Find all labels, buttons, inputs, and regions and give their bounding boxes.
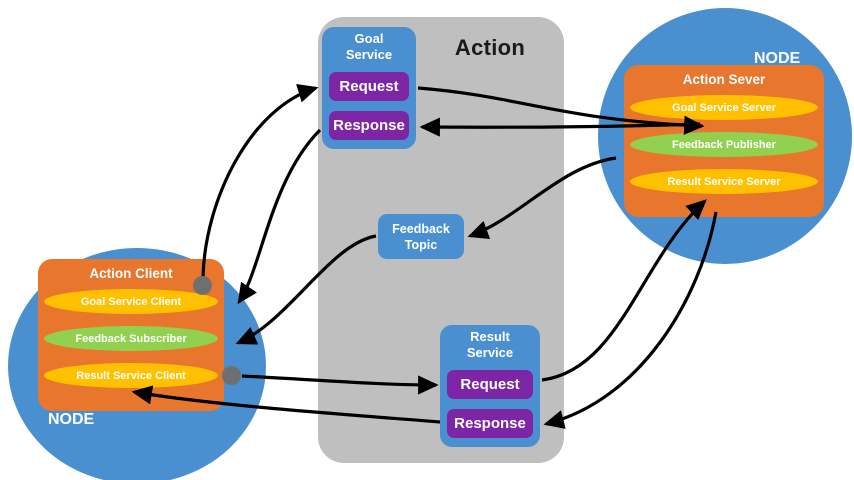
- connector-dot-result-client: [222, 366, 241, 385]
- result-service-response-button[interactable]: Response: [447, 409, 533, 438]
- pill-feedback-subscriber[interactable]: Feedback Subscriber: [44, 326, 218, 351]
- goal-service-response-button[interactable]: Response: [329, 111, 409, 140]
- goal-service-title-line1: Goal: [322, 31, 416, 47]
- pill-result-service-client[interactable]: Result Service Client: [44, 363, 218, 388]
- diagram-canvas: Action NODE Action Client Goal Service C…: [0, 0, 854, 480]
- arrow-goal-client-to-request: [203, 88, 316, 277]
- goal-service-request-button[interactable]: Request: [329, 72, 409, 101]
- feedback-topic-line2: Topic: [405, 237, 437, 253]
- goal-service-title-line2: Service: [322, 47, 416, 63]
- feedback-topic-box[interactable]: Feedback Topic: [378, 214, 464, 259]
- feedback-topic-line1: Feedback: [392, 221, 450, 237]
- result-service-box: Result Service Request Response: [440, 325, 540, 447]
- action-panel-title: Action: [430, 35, 550, 61]
- action-server-title: Action Sever: [624, 72, 824, 87]
- client-node-label: NODE: [48, 411, 94, 429]
- connector-dot-goal-client: [193, 276, 212, 295]
- pill-feedback-publisher[interactable]: Feedback Publisher: [630, 132, 818, 157]
- arrow-response-to-goal-client: [239, 130, 320, 302]
- result-service-title: Result Service: [440, 329, 540, 361]
- goal-service-box: Goal Service Request Response: [322, 27, 416, 149]
- pill-goal-service-client[interactable]: Goal Service Client: [44, 289, 218, 314]
- pill-goal-service-server[interactable]: Goal Service Server: [630, 95, 818, 120]
- action-server-box: Action Sever Goal Service Server Feedbac…: [624, 65, 824, 217]
- goal-service-title: Goal Service: [322, 31, 416, 63]
- result-service-title-line2: Service: [440, 345, 540, 361]
- server-node-label: NODE: [754, 50, 800, 68]
- pill-result-service-server[interactable]: Result Service Server: [630, 169, 818, 194]
- result-service-title-line1: Result: [440, 329, 540, 345]
- result-service-request-button[interactable]: Request: [447, 370, 533, 399]
